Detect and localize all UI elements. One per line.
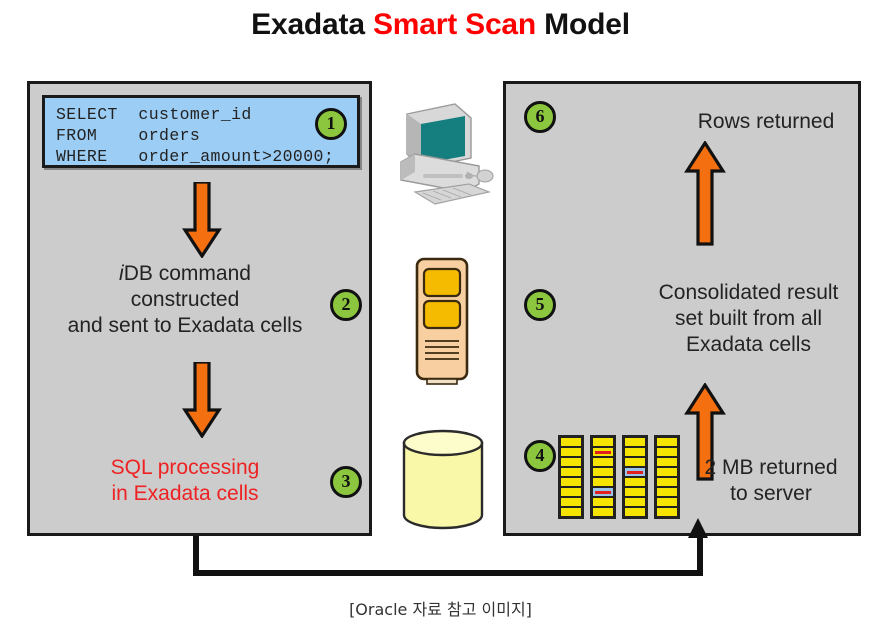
title-part1: Exadata <box>251 8 373 41</box>
step-badge-2: 2 <box>330 289 362 321</box>
disk-cell <box>561 508 581 516</box>
step-2-line3: and sent to Exadata cells <box>68 314 303 337</box>
returned-line1: 2 MB returned <box>704 456 837 479</box>
consolidated-result-text: Consolidated resultset built from allExa… <box>631 280 866 358</box>
disk-cell <box>593 498 613 506</box>
exadata-cells-panel: 6 Rows returned 5 Consolidated resultset… <box>503 81 861 536</box>
disk-cell <box>561 478 581 486</box>
disk-cell <box>593 508 613 516</box>
step-badge-5: 5 <box>524 289 556 321</box>
disk-cell <box>657 438 677 446</box>
disk-cell <box>625 438 645 446</box>
database-server-panel: SELECT customer_id FROM orders WHERE ord… <box>27 81 372 536</box>
disk-cell <box>625 508 645 516</box>
disk-cell <box>593 438 613 446</box>
step-2-line2: constructed <box>131 288 240 311</box>
disk-column <box>622 435 648 519</box>
step-3-line1: SQL processing <box>111 456 260 479</box>
disk-cell-selected <box>625 468 645 476</box>
consolidated-line2: set built from all <box>675 307 822 330</box>
disk-cell <box>657 498 677 506</box>
rows-returned-label: Rows returned <box>656 109 876 135</box>
step-2-text: iDB commandconstructedand sent to Exadat… <box>40 261 330 339</box>
sql-query-text: SELECT customer_id FROM orders WHERE ord… <box>56 104 334 167</box>
database-cylinder-icon <box>400 427 486 532</box>
title-highlight: Smart Scan <box>373 8 536 41</box>
disk-cell <box>561 448 581 456</box>
disk-cell <box>625 498 645 506</box>
sql-query-box: SELECT customer_id FROM orders WHERE ord… <box>42 95 360 168</box>
disk-cell <box>657 448 677 456</box>
disk-cell <box>561 468 581 476</box>
step-3-line2: in Exadata cells <box>111 482 258 505</box>
disk-cell <box>561 458 581 466</box>
disk-column <box>590 435 616 519</box>
feedback-connector-line <box>193 536 703 576</box>
consolidated-line3: Exadata cells <box>686 333 811 356</box>
disk-cell <box>657 488 677 496</box>
disk-cell <box>593 468 613 476</box>
step-badge-1: 1 <box>315 108 347 140</box>
disk-cell <box>561 498 581 506</box>
disk-grid-icon <box>558 435 680 519</box>
step-3-text: SQL processingin Exadata cells <box>40 455 330 507</box>
step-badge-6: 6 <box>524 101 556 133</box>
step-2-line1: DB command <box>124 262 251 285</box>
disk-cell <box>593 478 613 486</box>
disk-cell <box>625 478 645 486</box>
disk-cell <box>657 478 677 486</box>
feedback-connector-arrow <box>688 518 708 538</box>
step-badge-3: 3 <box>330 466 362 498</box>
page-title: Exadata Smart Scan Model <box>0 8 881 42</box>
up-arrow-rows-returned <box>683 141 727 246</box>
storage-cabinet-icon <box>414 255 471 386</box>
disk-cell <box>657 508 677 516</box>
step-badge-4: 4 <box>524 440 556 472</box>
returned-line2: to server <box>730 482 812 505</box>
down-arrow-1 <box>182 182 222 258</box>
disk-cell-highlighted <box>593 448 613 456</box>
disk-cell <box>625 458 645 466</box>
image-caption: [Oracle 자료 참고 이미지] <box>0 596 881 620</box>
consolidated-line1: Consolidated result <box>659 281 839 304</box>
disk-cell <box>561 488 581 496</box>
disk-cell <box>625 448 645 456</box>
disk-column <box>654 435 680 519</box>
disk-cell <box>657 458 677 466</box>
returned-to-server-text: 2 MB returnedto server <box>676 455 866 507</box>
down-arrow-2 <box>182 362 222 438</box>
disk-cell <box>561 438 581 446</box>
disk-cell-selected <box>593 488 613 496</box>
disk-cell <box>657 468 677 476</box>
title-part2: Model <box>536 8 630 41</box>
desktop-computer-icon <box>393 96 497 214</box>
disk-column <box>558 435 584 519</box>
disk-cell <box>625 488 645 496</box>
disk-cell <box>593 458 613 466</box>
